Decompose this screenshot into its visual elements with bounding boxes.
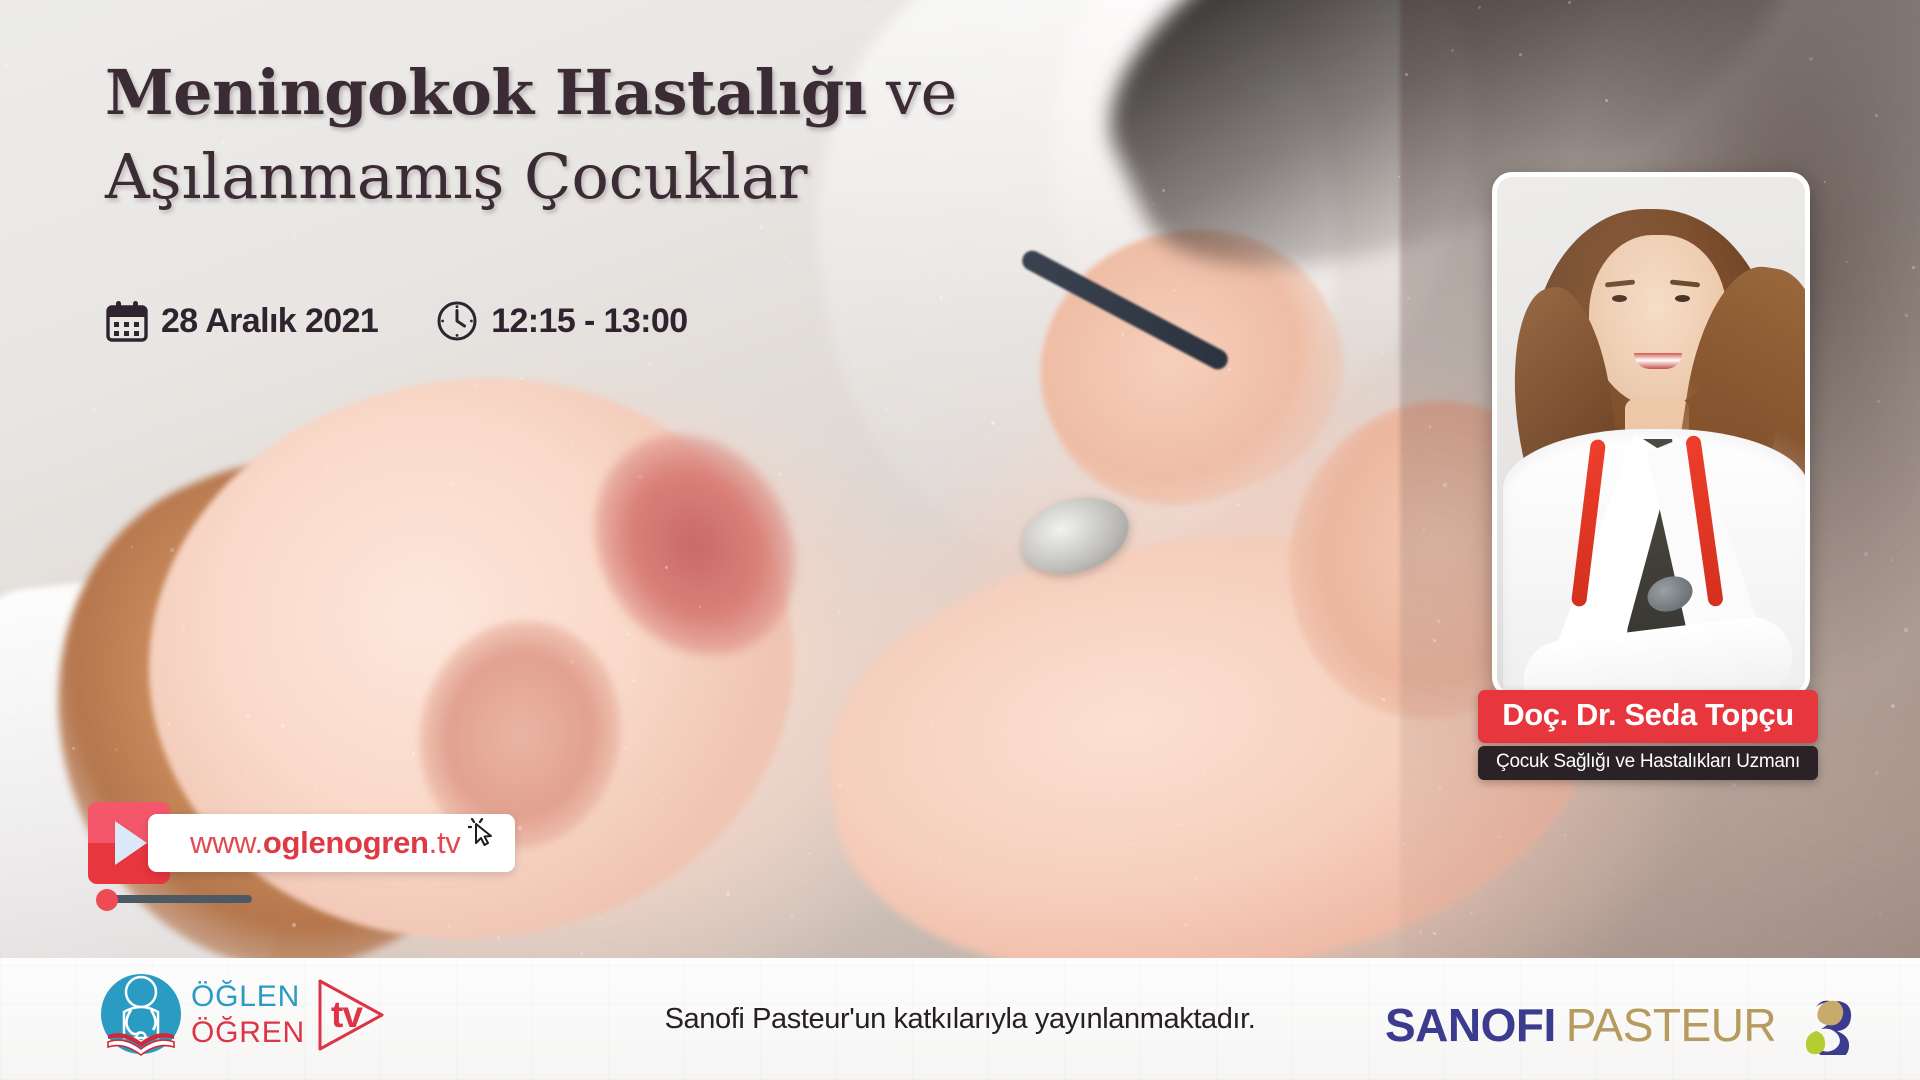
calendar-icon bbox=[106, 300, 148, 342]
speaker-photo-frame bbox=[1492, 172, 1810, 697]
event-date: 28 Aralık 2021 bbox=[106, 300, 378, 342]
sanofi-swirl-icon bbox=[1786, 995, 1854, 1055]
banner-canvas: Meningokok Hastalığı ve Aşılanmamış Çocu… bbox=[0, 0, 1920, 1080]
sponsor-note: Sanofi Pasteur'un katkılarıyla yayınlanm… bbox=[665, 1003, 1256, 1036]
play-triangle bbox=[115, 821, 147, 865]
photo-sheen bbox=[1497, 177, 1805, 692]
speaker-title-bar: Çocuk Sağlığı ve Hastalıkları Uzmanı bbox=[1478, 746, 1818, 780]
video-progress-slider[interactable] bbox=[92, 888, 252, 910]
sponsor-word-sanofi: SANOFI bbox=[1385, 998, 1556, 1052]
speaker-title: Çocuk Sağlığı ve Hastalıkları Uzmanı bbox=[1486, 751, 1810, 773]
speaker-name-plate: Doç. Dr. Seda Topçu Çocuk Sağlığı ve Has… bbox=[1478, 690, 1818, 780]
slider-track[interactable] bbox=[102, 895, 252, 903]
url-suffix: .tv bbox=[429, 825, 461, 860]
sponsor-logo: SANOFI PASTEUR bbox=[1385, 995, 1854, 1055]
event-time: 12:15 - 13:00 bbox=[436, 300, 687, 342]
website-url-text: www.oglenogren.tv bbox=[190, 825, 460, 861]
speaker-photo-card bbox=[1492, 172, 1810, 697]
url-prefix: www. bbox=[190, 825, 263, 860]
slider-knob[interactable] bbox=[96, 889, 118, 911]
url-main: oglenogren bbox=[263, 825, 429, 860]
event-meta-row: 28 Aralık 2021 12:15 - 13:00 bbox=[106, 300, 688, 342]
sponsor-word-pasteur: PASTEUR bbox=[1566, 998, 1776, 1052]
title-line-1: Meningokok Hastalığı ve bbox=[105, 62, 957, 124]
headline: Meningokok Hastalığı ve Aşılanmamış Çocu… bbox=[105, 62, 957, 209]
title-bold-part: Meningokok Hastalığı bbox=[105, 56, 867, 129]
event-date-text: 28 Aralık 2021 bbox=[161, 302, 378, 341]
website-url-pill[interactable]: www.oglenogren.tv bbox=[148, 814, 515, 872]
click-cursor-icon bbox=[468, 818, 498, 855]
speaker-name: Doç. Dr. Seda Topçu bbox=[1488, 697, 1808, 733]
title-line-2: Aşılanmamış Çocuklar bbox=[105, 144, 957, 209]
clock-icon bbox=[436, 300, 478, 342]
title-regular-part: ve bbox=[886, 56, 957, 129]
avatar bbox=[1497, 177, 1805, 692]
status-badge: Doç. Dr. Seda Topçu bbox=[1478, 690, 1818, 743]
event-time-text: 12:15 - 13:00 bbox=[491, 302, 687, 341]
